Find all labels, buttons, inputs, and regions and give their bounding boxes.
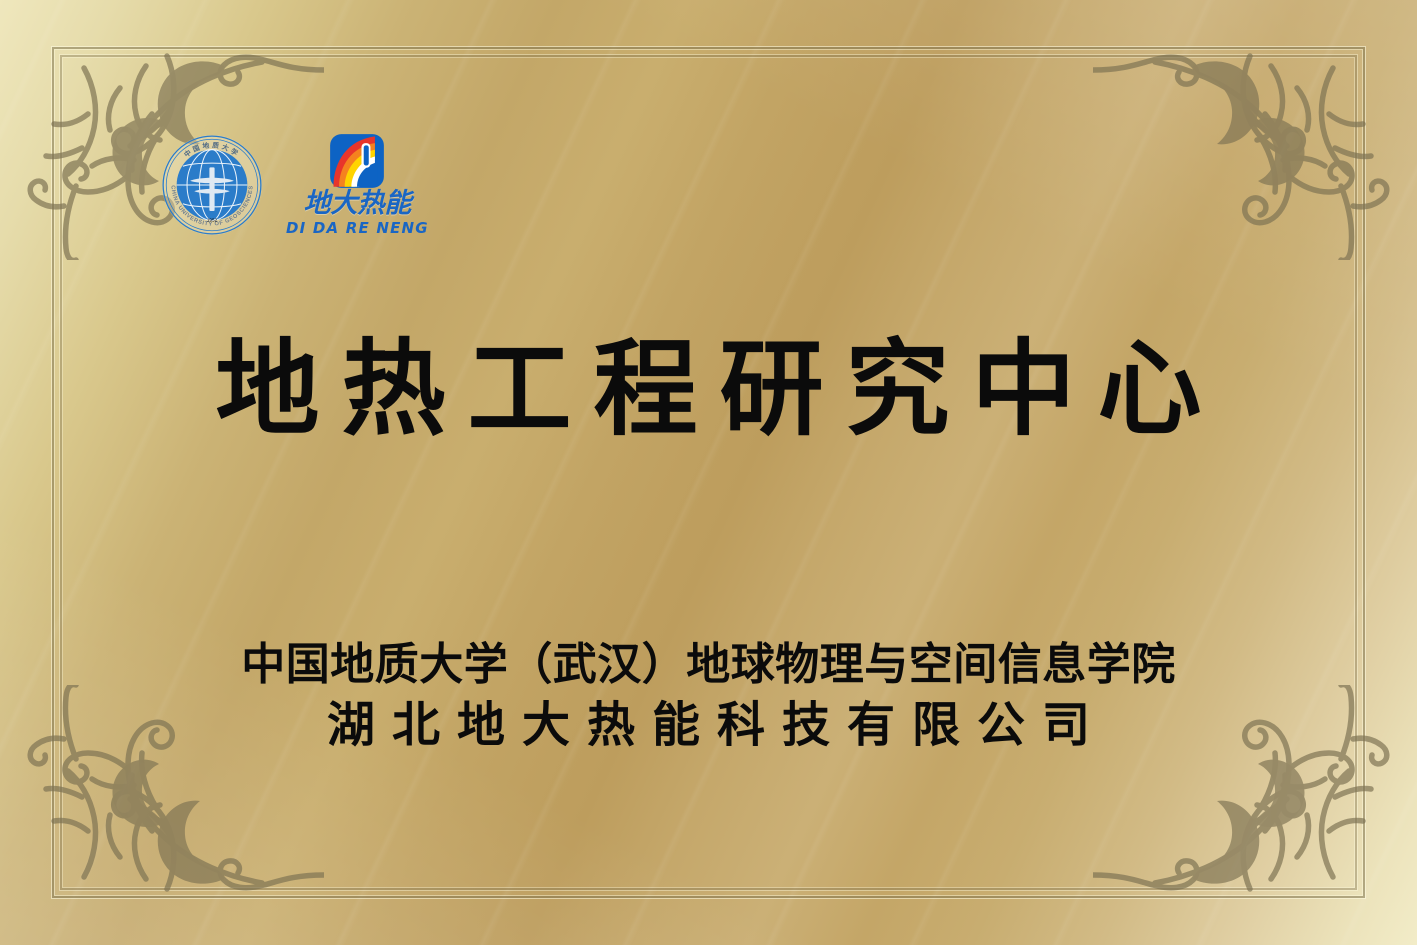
- page-title: 地热工程研究中心: [0, 330, 1417, 449]
- company-name-en: DI DA RE NENG: [286, 220, 429, 237]
- company-name-cn: 地大热能: [303, 190, 411, 218]
- company-logo: 地大热能 DI DA RE NENG: [286, 133, 429, 237]
- university-seal-icon: 中国地质大学 CHINA UNIVERSITY OF GEOSCIENCES 1…: [160, 133, 264, 237]
- subtitle-university: 中国地质大学（武汉）地球物理与空间信息学院: [0, 638, 1417, 692]
- didareneng-mark-icon: [329, 133, 385, 189]
- svg-text:1952: 1952: [207, 217, 218, 222]
- subtitle-block: 中国地质大学（武汉）地球物理与空间信息学院 湖北地大热能科技有限公司: [0, 638, 1417, 754]
- corner-flourish-icon-top-right: [1093, 10, 1393, 260]
- subtitle-company: 湖北地大热能科技有限公司: [0, 696, 1417, 755]
- logo-row: 中国地质大学 CHINA UNIVERSITY OF GEOSCIENCES 1…: [160, 133, 429, 237]
- award-plaque: 中国地质大学 CHINA UNIVERSITY OF GEOSCIENCES 1…: [0, 0, 1417, 945]
